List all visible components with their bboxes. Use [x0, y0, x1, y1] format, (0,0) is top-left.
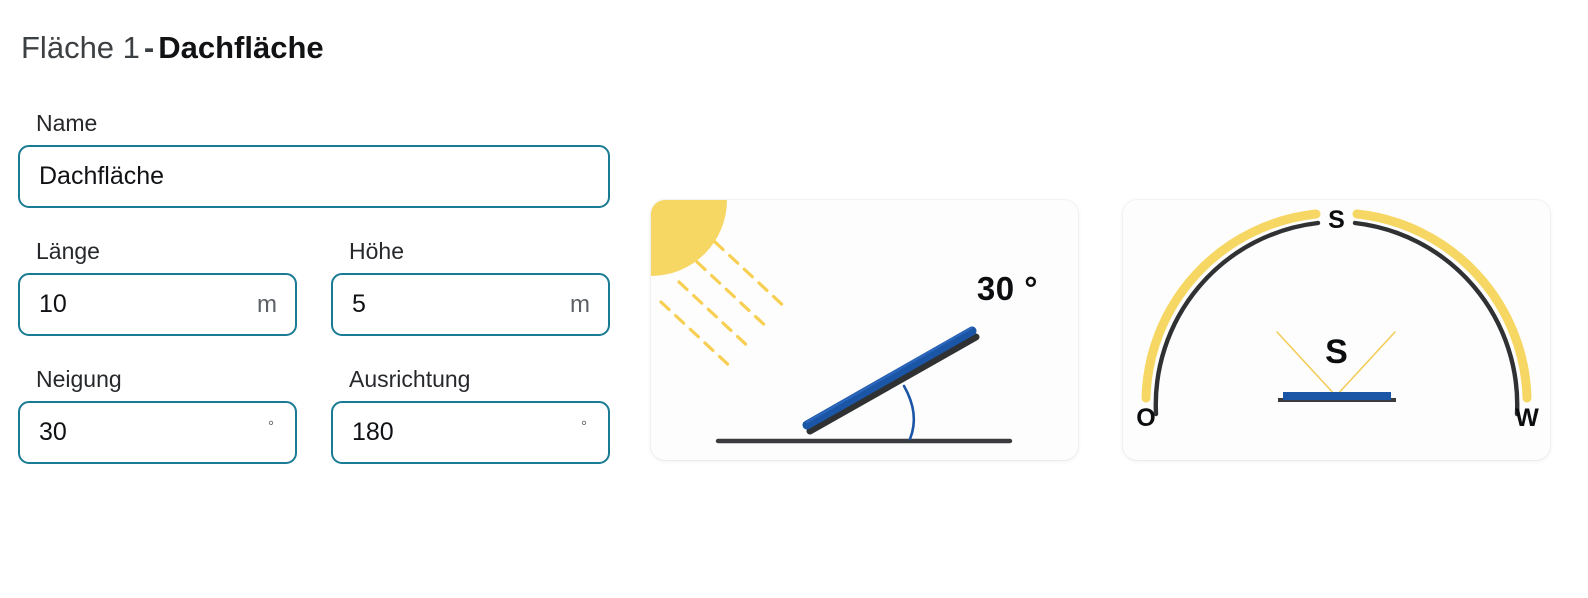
- laenge-input[interactable]: 10 m: [18, 273, 297, 336]
- compass-label-top: S: [1328, 206, 1345, 234]
- solar-panel-top-icon: [1278, 396, 1396, 400]
- field-laenge-label: Länge: [18, 236, 297, 266]
- field-neigung: Neigung 30 °: [18, 364, 297, 464]
- sun-quarter-icon: [651, 200, 727, 276]
- field-ausrichtung-label: Ausrichtung: [331, 364, 610, 394]
- hoehe-input[interactable]: 5 m: [331, 273, 610, 336]
- name-input[interactable]: Dachfläche: [18, 145, 610, 208]
- laenge-input-value: 10: [39, 290, 249, 319]
- dimension-row: Länge 10 m Höhe 5 m: [18, 236, 618, 336]
- page-title-name: Dachfläche: [158, 30, 323, 65]
- compass-label-left: O: [1136, 404, 1155, 432]
- hoehe-input-value: 5: [352, 290, 562, 319]
- compass-diagram-svg: S O W S: [1123, 200, 1550, 460]
- field-name-label: Name: [18, 108, 610, 138]
- field-laenge: Länge 10 m: [18, 236, 297, 336]
- tilt-diagram-svg: [651, 200, 1078, 460]
- ausrichtung-unit: °: [573, 418, 590, 435]
- field-ausrichtung: Ausrichtung 180 °: [331, 364, 610, 464]
- orientation-row: Neigung 30 ° Ausrichtung 180 °: [18, 364, 618, 464]
- compass-label-right: W: [1515, 404, 1539, 432]
- field-neigung-label: Neigung: [18, 364, 297, 394]
- field-hoehe-label: Höhe: [331, 236, 610, 266]
- compass-arc-icon: [1156, 223, 1517, 414]
- page-title: Fläche 1-Dachfläche: [21, 26, 324, 70]
- solar-panel-icon: [807, 328, 976, 431]
- neigung-unit: °: [260, 418, 277, 435]
- tilt-angle-arc-icon: [904, 386, 914, 439]
- surface-form: Name Dachfläche Länge 10 m Höhe 5 m Neig…: [18, 108, 618, 464]
- name-input-value: Dachfläche: [39, 162, 590, 191]
- laenge-unit: m: [249, 291, 277, 319]
- page-title-separator: -: [140, 30, 158, 65]
- ausrichtung-input[interactable]: 180 °: [331, 401, 610, 464]
- hoehe-unit: m: [562, 291, 590, 319]
- neigung-input-value: 30: [39, 418, 260, 447]
- neigung-input[interactable]: 30 °: [18, 401, 297, 464]
- tilt-angle-label: 30 °: [977, 270, 1038, 308]
- field-hoehe: Höhe 5 m: [331, 236, 610, 336]
- page-title-prefix: Fläche 1: [21, 30, 140, 65]
- compass-center-label: S: [1325, 333, 1348, 371]
- compass-diagram-card: S O W S: [1123, 200, 1550, 460]
- tilt-diagram-card: 30 °: [651, 200, 1078, 460]
- ausrichtung-input-value: 180: [352, 418, 573, 447]
- field-name: Name Dachfläche: [18, 108, 610, 208]
